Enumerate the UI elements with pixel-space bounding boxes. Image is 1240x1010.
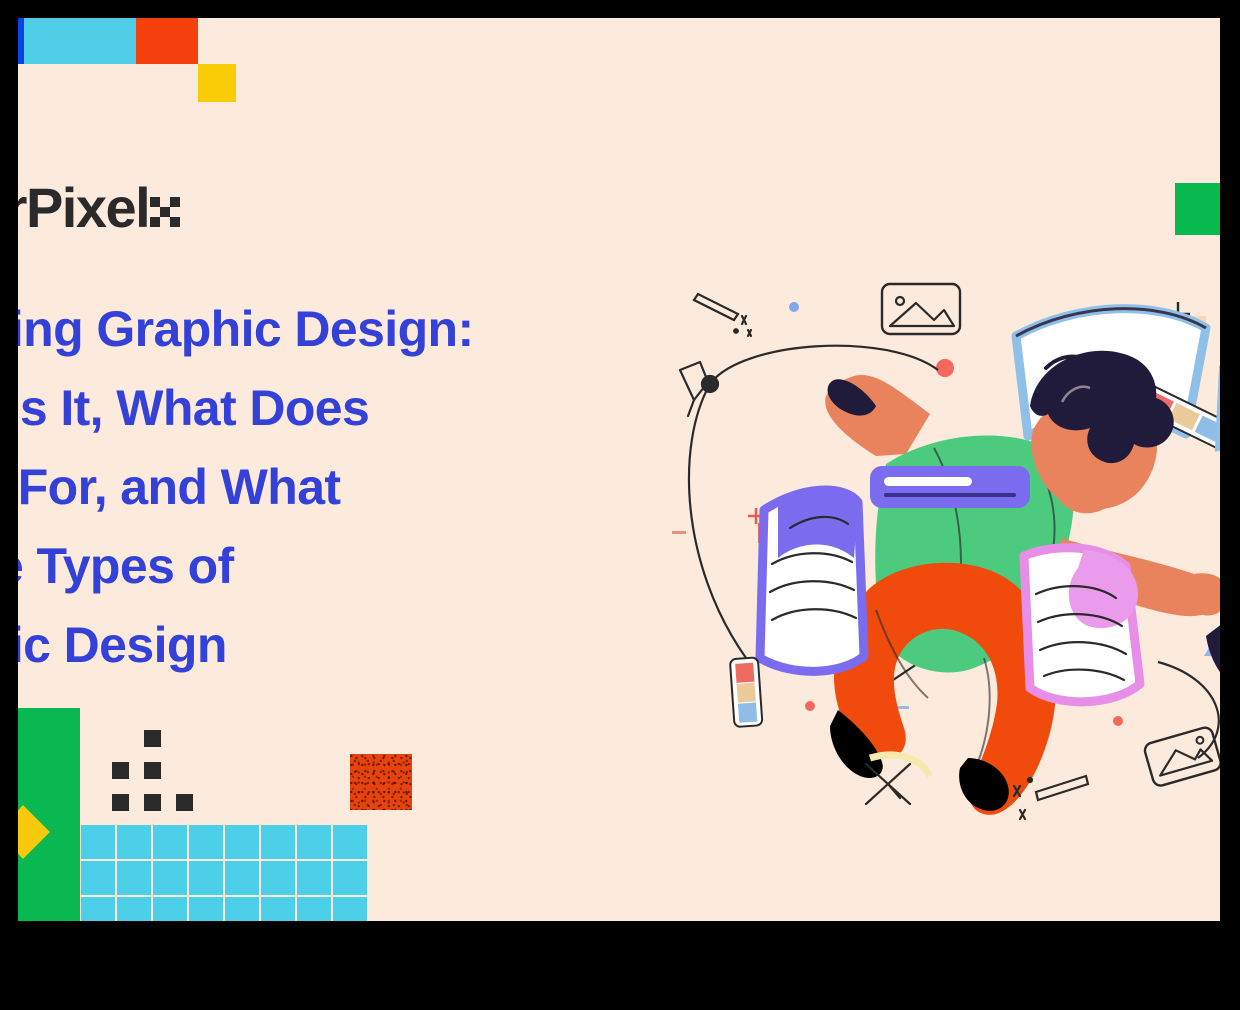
red-dot-small-2 — [1113, 716, 1123, 726]
page-title: oding Graphic Design: at Is It, What Doe… — [18, 290, 670, 685]
pixel-checker-x-icon — [150, 197, 180, 227]
decor-yellow-square — [198, 64, 236, 102]
headline-line-5: ohic Design — [18, 606, 670, 685]
graphic-designer-character-illustration — [638, 258, 1220, 828]
decor-dot-triangle-grid — [104, 730, 200, 812]
decor-orange-textured-square — [350, 754, 412, 810]
headline-line-2: at Is It, What Does — [18, 369, 670, 448]
purple-notebook — [760, 487, 864, 671]
red-dot-small — [805, 701, 815, 711]
headline-line-4: the Types of — [18, 527, 670, 606]
decor-green-block-right — [1175, 183, 1220, 235]
brand-logo-text-a: erPixel — [18, 180, 149, 236]
decor-cyan-block — [24, 18, 136, 64]
red-dot — [936, 359, 954, 377]
brand-logo[interactable]: erPixel — [18, 180, 181, 236]
hero-banner: erPixel oding Graphic Design: at Is It, … — [18, 18, 1220, 921]
purple-slider-bar — [870, 466, 1030, 508]
decor-orange-block — [136, 18, 198, 64]
pink-notebook — [1024, 548, 1140, 702]
headline-line-3: se For, and What — [18, 448, 670, 527]
paper-right-edge — [1218, 362, 1220, 448]
character-right-hand — [1194, 573, 1220, 615]
color-swatch-strip-small — [730, 657, 763, 727]
scissors-icon — [866, 764, 910, 804]
photo-tag-icon — [1143, 726, 1220, 788]
headline-line-1: oding Graphic Design: — [18, 290, 670, 369]
image-placeholder-icon — [882, 284, 960, 334]
decor-cyan-graph-grid — [80, 824, 368, 921]
blue-dot — [789, 302, 799, 312]
dash-mark — [672, 531, 686, 534]
bezier-handle-right — [1158, 662, 1219, 758]
screenshot-frame: erPixel oding Graphic Design: at Is It, … — [0, 0, 1240, 1010]
